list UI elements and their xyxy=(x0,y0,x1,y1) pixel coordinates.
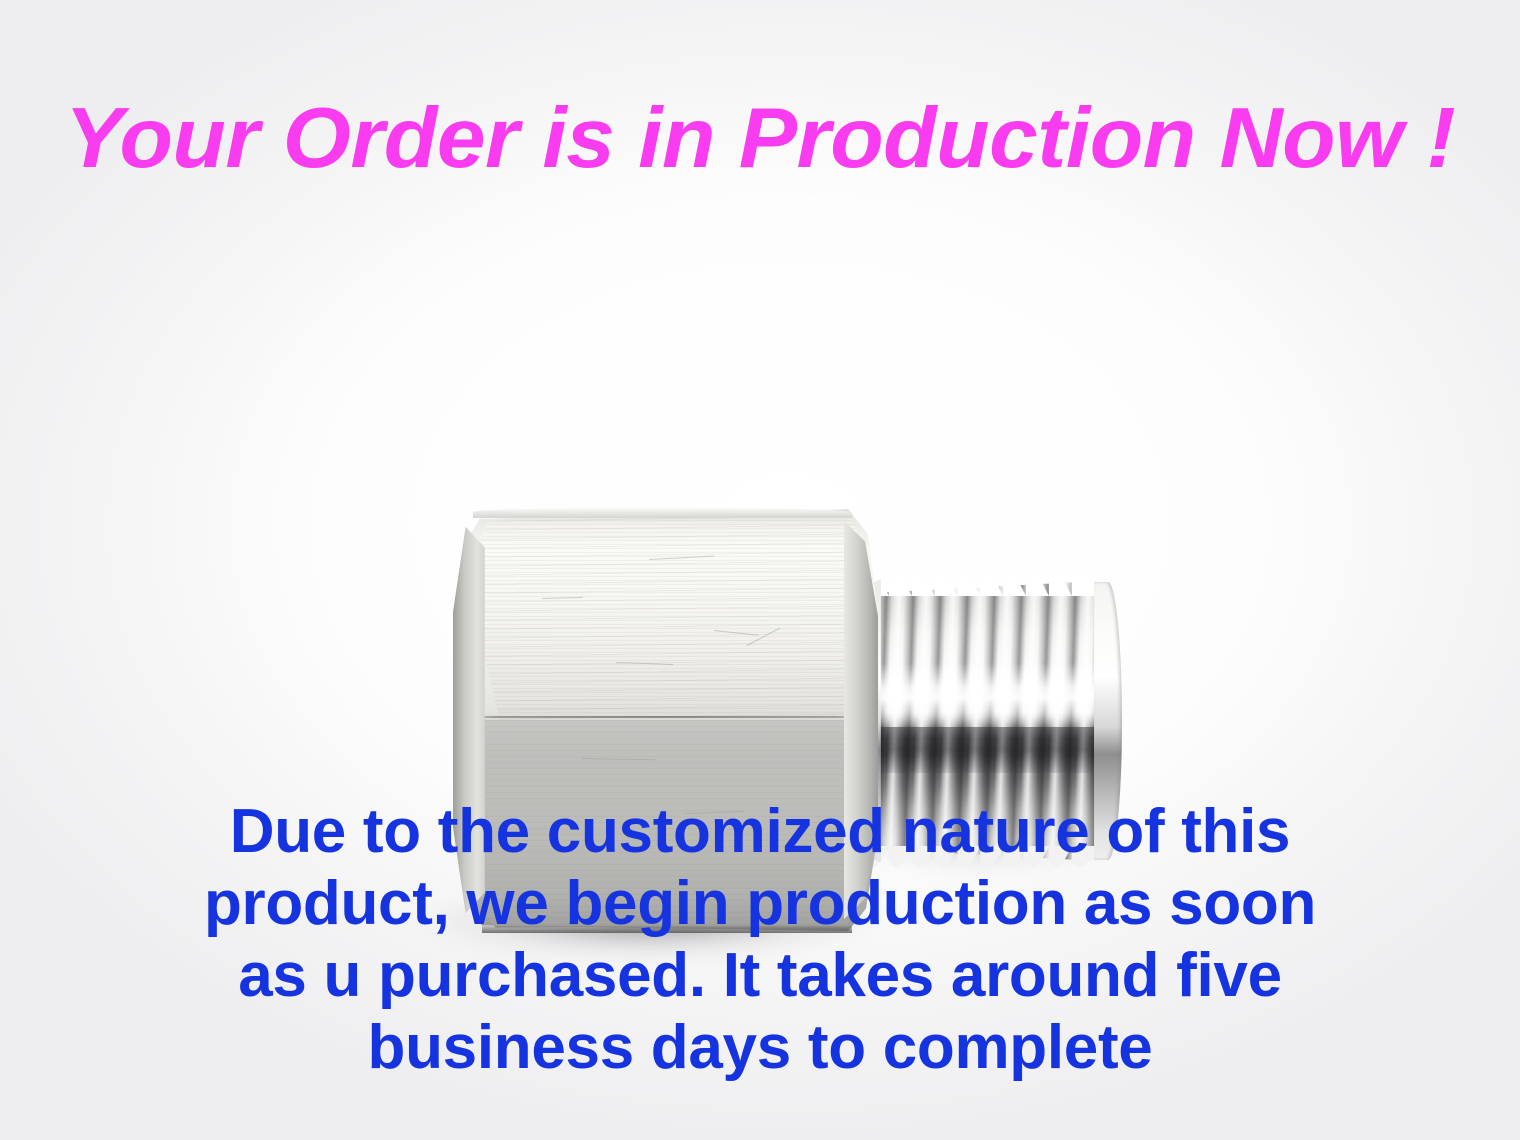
thread-crest-profile-top xyxy=(866,574,1120,596)
notice-line-1: Due to the customized nature of this xyxy=(0,796,1520,868)
page-title: Your Order is in Production Now ! xyxy=(0,96,1520,181)
production-notice: Due to the customized nature of this pro… xyxy=(0,796,1520,1084)
thread-shadow-band xyxy=(866,727,1120,773)
hex-top-edge-highlight xyxy=(473,508,852,518)
notice-line-4: business days to complete xyxy=(0,1012,1520,1084)
notice-line-2: product, we begin production as soon xyxy=(0,868,1520,940)
notice-line-3: as u purchased. It takes around five xyxy=(0,940,1520,1012)
machining-striations-fine xyxy=(461,512,870,726)
hex-facet-upper xyxy=(461,512,870,726)
promo-banner: Your Order is in Production Now ! xyxy=(0,0,1520,1140)
product-photo xyxy=(0,230,1520,770)
hex-facet-seam xyxy=(461,716,870,718)
thread-highlight-band xyxy=(866,663,1120,727)
